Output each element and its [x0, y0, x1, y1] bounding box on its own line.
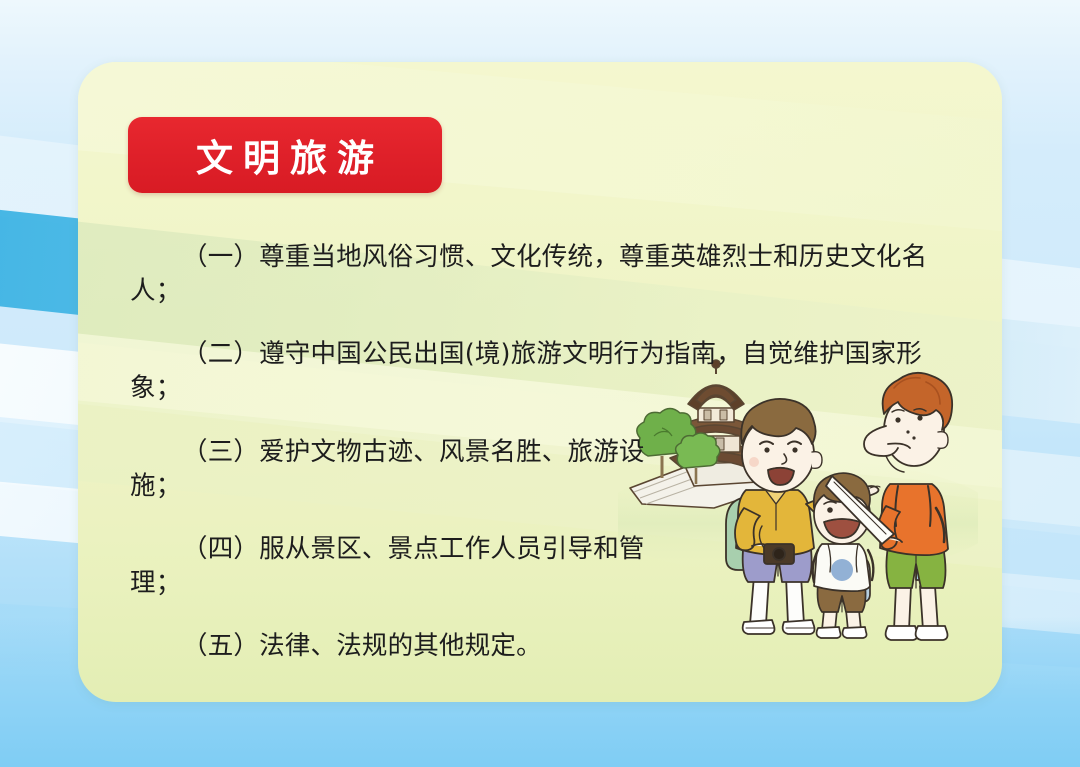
list-item: （二）遵守中国公民出国(境)旅游文明行为指南，自觉维护国家形象； — [130, 337, 960, 405]
list-item-number: （三） — [182, 437, 259, 467]
list-item: （五）法律、法规的其他规定。 — [130, 629, 960, 663]
list-item: （三）爱护文物古迹、风景名胜、旅游设施； — [130, 435, 690, 503]
title-badge: 文明旅游 — [128, 117, 442, 193]
title-badge-label: 文明旅游 — [186, 128, 384, 182]
list-item-number: （一） — [182, 242, 259, 272]
list-item-number: （二） — [182, 339, 259, 369]
guidelines-list: （一）尊重当地风俗习惯、文化传统，尊重英雄烈士和历史文化名人； （二）遵守中国公… — [130, 240, 960, 692]
content-card: 文明旅游 — [78, 62, 1002, 702]
list-item-text: 法律、法规的其他规定。 — [259, 631, 542, 661]
list-item: （四）服从景区、景点工作人员引导和管理； — [130, 532, 690, 600]
list-item: （一）尊重当地风俗习惯、文化传统，尊重英雄烈士和历史文化名人； — [130, 240, 960, 308]
list-item-number: （五） — [182, 631, 259, 661]
list-item-number: （四） — [182, 534, 259, 564]
